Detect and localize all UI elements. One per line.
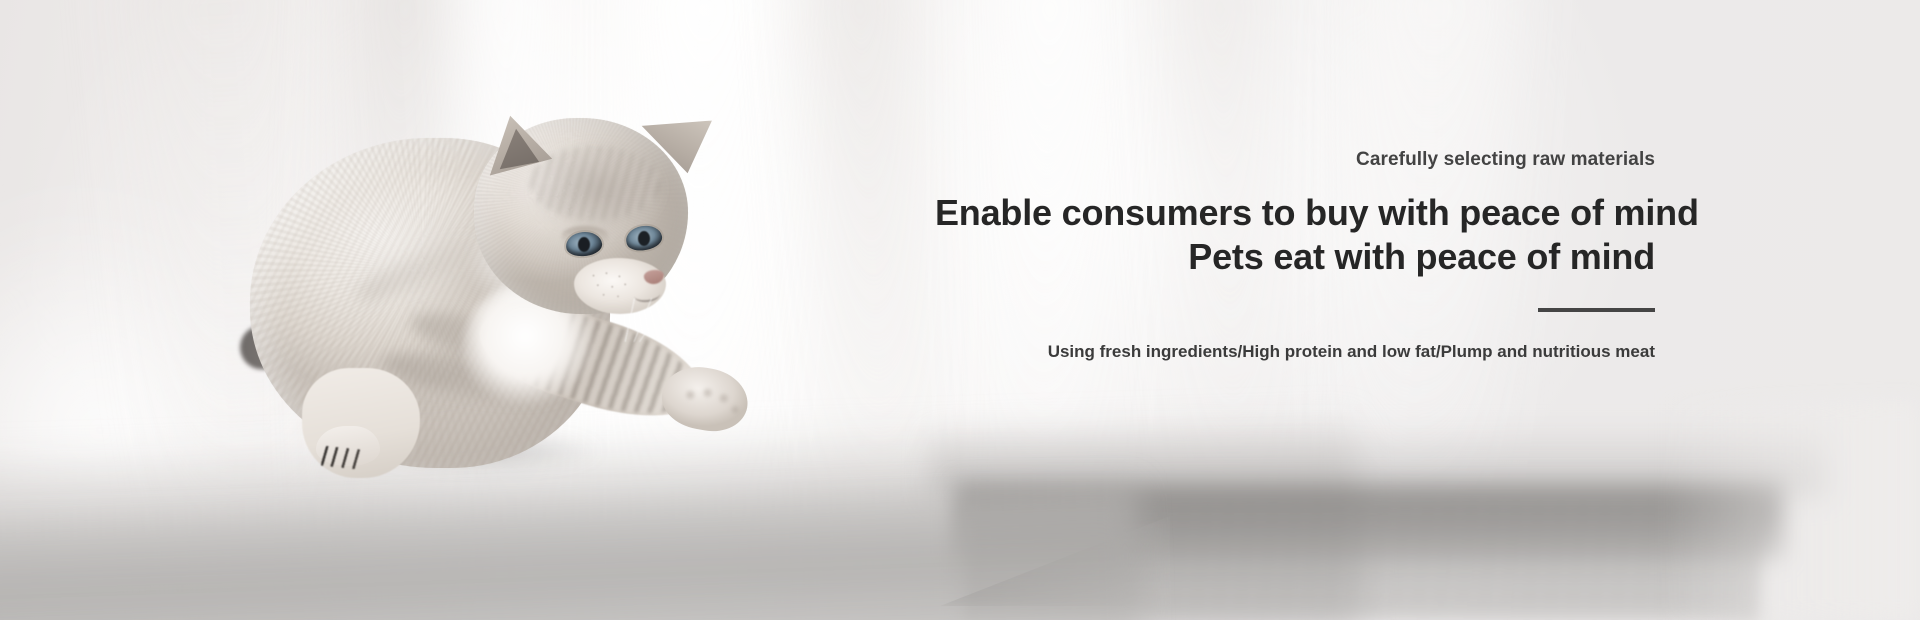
hero-copy-block: Carefully selecting raw materials Enable… [935, 150, 1655, 360]
cat-photo [230, 110, 790, 490]
hero-eyebrow: Carefully selecting raw materials [935, 150, 1655, 169]
hero-divider-rule [1538, 308, 1655, 312]
hero-headline: Enable consumers to buy with peace of mi… [935, 191, 1655, 279]
hero-headline-line-1: Enable consumers to buy with peace of mi… [935, 191, 1655, 235]
hero-banner: Carefully selecting raw materials Enable… [0, 0, 1920, 620]
hero-subcopy: Using fresh ingredients/High protein and… [935, 343, 1655, 360]
hero-headline-line-2: Pets eat with peace of mind [935, 235, 1655, 279]
cat-whiskers [618, 298, 698, 342]
cat-pupil-right [638, 231, 650, 246]
ledge-fade-right [1660, 400, 1920, 620]
cat-pupil-left [578, 237, 590, 252]
